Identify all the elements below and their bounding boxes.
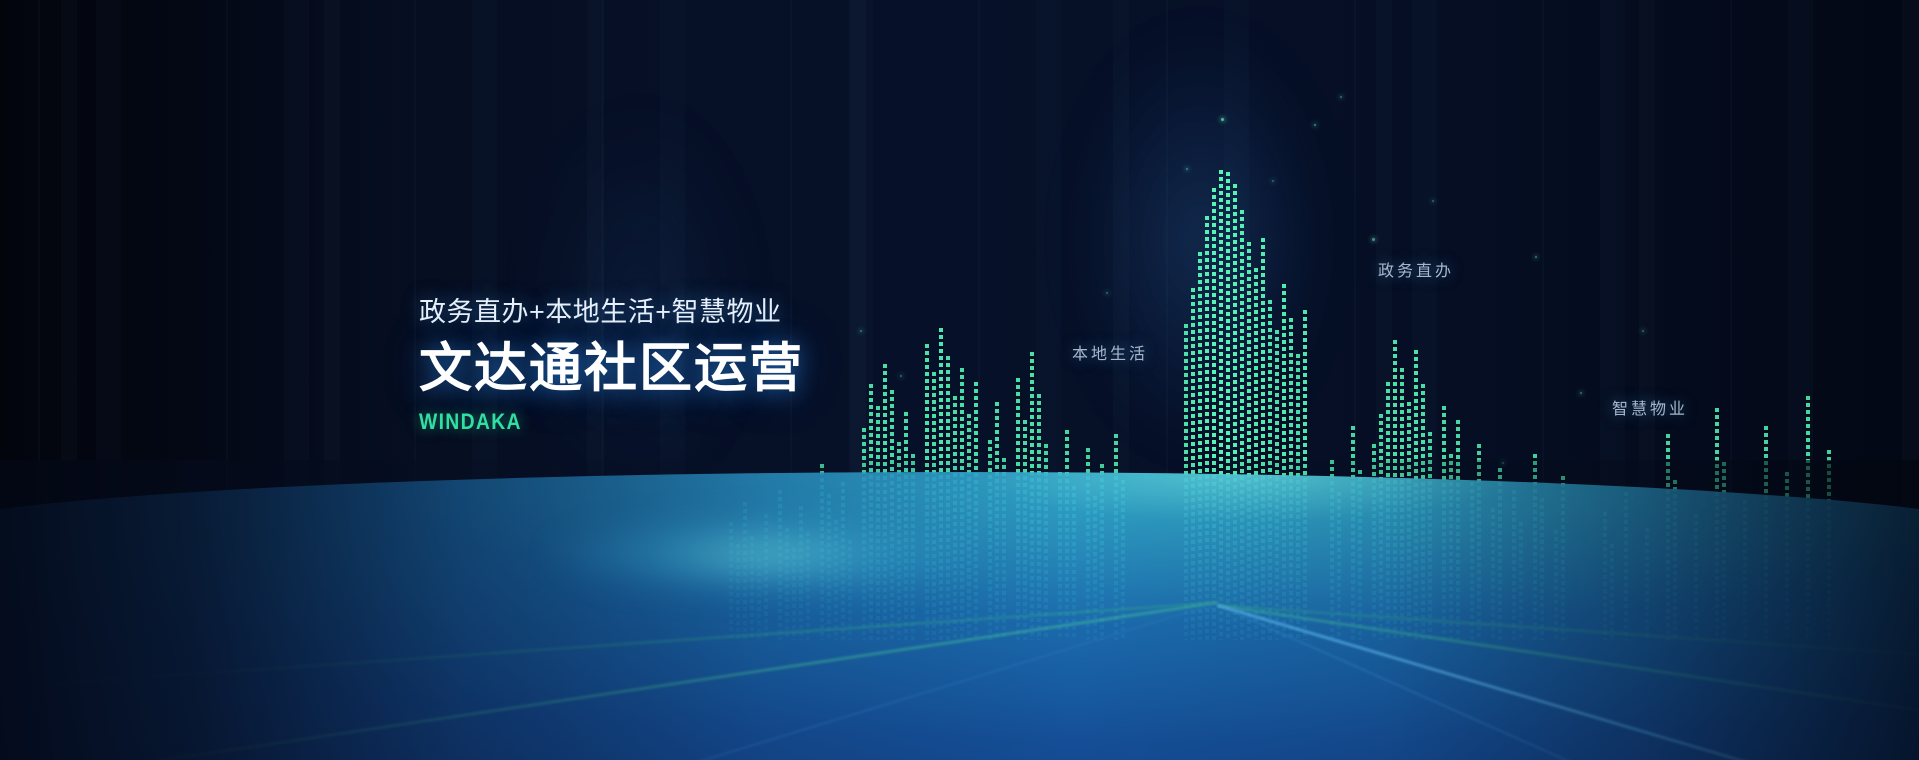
floating-tag-2: 本地生活 bbox=[1072, 340, 1148, 364]
floating-tag-3: 智慧物业 bbox=[1612, 395, 1688, 419]
sparkle-dot bbox=[860, 330, 862, 332]
horizon-glow bbox=[458, 500, 1078, 610]
sparkle-dot bbox=[1432, 200, 1434, 202]
sparkle-dot bbox=[1372, 238, 1375, 241]
brand-wordmark: WINDAKA bbox=[419, 409, 758, 435]
sparkle-dot bbox=[1186, 168, 1188, 170]
sparkle-dot bbox=[1340, 96, 1342, 98]
sparkle-dot bbox=[1314, 124, 1316, 126]
sparkle-dot bbox=[1535, 256, 1537, 258]
sparkle-dot bbox=[1272, 180, 1274, 182]
promo-banner: 政务直办本地生活智慧物业 政务直办+本地生活+智慧物业 文达通社区运营 WIND… bbox=[0, 0, 1919, 760]
sparkle-dot bbox=[970, 430, 972, 432]
sparkle-dot bbox=[1106, 292, 1108, 294]
banner-title: 文达通社区运营 bbox=[419, 340, 804, 397]
headline-block: 政务直办+本地生活+智慧物业 文达通社区运营 WINDAKA bbox=[419, 296, 804, 435]
floating-tag-1: 政务直办 bbox=[1378, 257, 1454, 281]
banner-subtitle: 政务直办+本地生活+智慧物业 bbox=[419, 296, 804, 328]
sparkle-dot bbox=[900, 375, 902, 377]
sparkle-dot bbox=[1221, 118, 1224, 121]
sparkle-dot bbox=[1642, 330, 1644, 332]
sparkle-dot bbox=[1580, 392, 1582, 394]
